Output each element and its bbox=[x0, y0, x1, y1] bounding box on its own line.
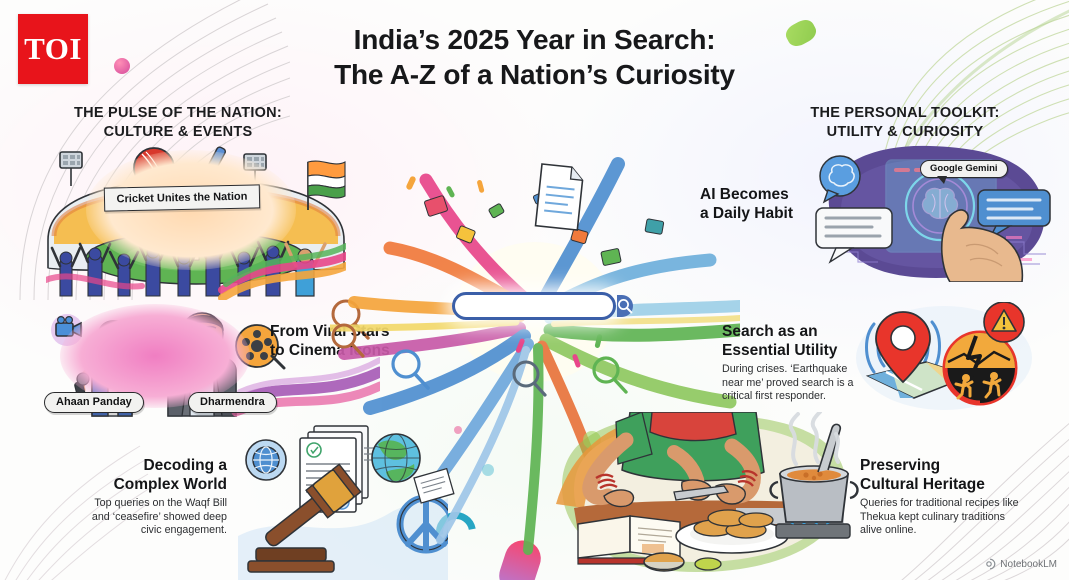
section-header-left-line1: THE PULSE OF THE NATION: bbox=[58, 104, 298, 123]
callout-decoding: Decoding a Complex World Top queries on … bbox=[75, 456, 227, 538]
cricket-banner-text: Cricket Unites the Nation bbox=[116, 191, 247, 206]
speech-bubble-google-gemini: Google Gemini bbox=[920, 160, 1008, 178]
cricket-illustration bbox=[46, 140, 346, 300]
infographic-canvas: TOI India’s 2025 Year in Search: The A-Z… bbox=[0, 0, 1069, 580]
toi-logo-text: TOI bbox=[24, 31, 82, 67]
callout-utility-body: During crises. ‘Earthquake near me’ prov… bbox=[722, 363, 857, 404]
heritage-illustration bbox=[556, 412, 866, 580]
name-tag-dharmendra: Dharmendra bbox=[188, 392, 277, 413]
callout-decoding-body: Top queries on the Waqf Bill and ‘ceasef… bbox=[75, 497, 227, 538]
search-icon bbox=[617, 298, 633, 314]
notebooklm-credit: NotebookLM bbox=[984, 558, 1057, 570]
name-tag-ahaan-panday: Ahaan Panday bbox=[44, 392, 144, 413]
callout-decoding-title-line2: Complex World bbox=[75, 475, 227, 494]
cricket-banner: Cricket Unites the Nation bbox=[104, 184, 260, 211]
section-header-left: THE PULSE OF THE NATION: CULTURE & EVENT… bbox=[58, 104, 298, 142]
callout-heritage-title-line2: Cultural Heritage bbox=[860, 475, 1020, 494]
callout-ai-title-line1: AI Becomes bbox=[700, 185, 820, 204]
callout-heritage: Preserving Cultural Heritage Queries for… bbox=[860, 456, 1020, 538]
section-header-right-line2: UTILITY & CURIOSITY bbox=[790, 123, 1020, 142]
page-title: India’s 2025 Year in Search: The A-Z of … bbox=[0, 22, 1069, 92]
callout-ai-habit: AI Becomes a Daily Habit bbox=[700, 185, 820, 223]
decorative-green-blob bbox=[783, 16, 820, 50]
callout-ai-title-line2: a Daily Habit bbox=[700, 204, 820, 223]
page-title-line1: India’s 2025 Year in Search: bbox=[0, 22, 1069, 57]
notebooklm-icon bbox=[984, 558, 996, 570]
callout-heritage-body: Queries for traditional recipes like The… bbox=[860, 497, 1020, 538]
decorative-pink-dot bbox=[114, 58, 130, 74]
toi-logo[interactable]: TOI bbox=[18, 14, 88, 84]
utility-illustration bbox=[852, 302, 1032, 414]
callout-utility-title-line2: Essential Utility bbox=[722, 341, 857, 360]
notebooklm-credit-text: NotebookLM bbox=[1000, 559, 1057, 570]
callout-utility-title-line1: Search as an bbox=[722, 322, 857, 341]
search-input[interactable] bbox=[455, 295, 617, 317]
search-submit-button[interactable] bbox=[617, 295, 633, 317]
search-bar[interactable] bbox=[452, 292, 616, 320]
callout-decoding-title-line1: Decoding a bbox=[75, 456, 227, 475]
callout-essential-utility: Search as an Essential Utility During cr… bbox=[722, 322, 857, 404]
callout-heritage-title-line1: Preserving bbox=[860, 456, 1020, 475]
section-header-right-line1: THE PERSONAL TOOLKIT: bbox=[790, 104, 1020, 123]
section-header-right: THE PERSONAL TOOLKIT: UTILITY & CURIOSIT… bbox=[790, 104, 1020, 142]
page-title-line2: The A-Z of a Nation’s Curiosity bbox=[0, 57, 1069, 92]
